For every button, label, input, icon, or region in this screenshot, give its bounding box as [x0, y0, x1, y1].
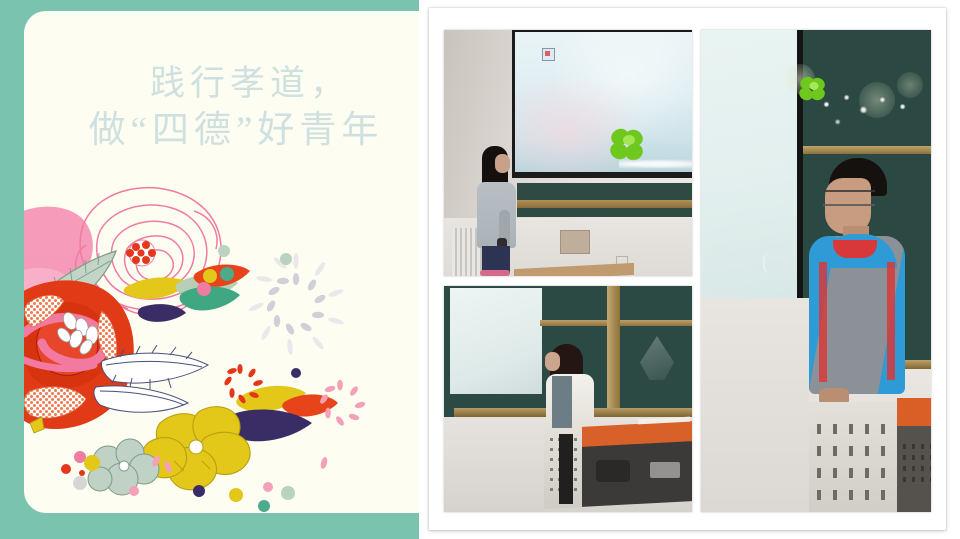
console-label: [650, 462, 680, 478]
projection-screen: [701, 30, 801, 300]
title-line-1: 践行孝道，: [24, 61, 419, 107]
projection-screen: [450, 288, 542, 394]
slide-title: 践行孝道， 做“四德”好青年: [24, 61, 419, 156]
yellow-flower: [142, 407, 250, 490]
grey-burst: [248, 253, 345, 355]
photo-boy-speaking: [701, 30, 931, 512]
blackboard-rail-vertical: [607, 286, 620, 422]
sparkle-trail: [813, 86, 925, 132]
feather-leaf-2: [94, 386, 188, 412]
slide-canvas: 践行孝道， 做“四德”好青年: [0, 0, 960, 539]
glasses-icon: [823, 190, 875, 206]
console-speaker-grill: [596, 460, 630, 482]
student-face: [545, 352, 560, 371]
blackboard-rail-upper: [803, 146, 931, 154]
student-scarf: [552, 376, 572, 428]
console-speaker-grill: [903, 444, 931, 488]
wall-panel: [560, 230, 590, 254]
photo-girl-at-projection-screen: [444, 30, 692, 276]
hoodie-stripe-right: [887, 262, 895, 380]
left-lower-wall: [701, 298, 809, 512]
peony-berry-center: [126, 240, 156, 266]
lectern-perforations: [817, 416, 889, 512]
left-decorative-panel: 践行孝道， 做“四德”好青年: [0, 0, 419, 539]
left-cream-card: 践行孝道， 做“四德”好青年: [24, 11, 419, 513]
floral-bouquet-illustration: [24, 161, 419, 513]
student-jacket: [477, 182, 516, 248]
chalk-mark: [763, 252, 779, 274]
blackboard-rail: [517, 200, 692, 208]
photo-girl-at-lectern: [444, 286, 692, 512]
student-legs: [559, 434, 573, 504]
title-line-2: 做“四德”好青年: [24, 107, 419, 156]
hoodie-collar: [833, 240, 877, 258]
slide-logo-icon: [542, 48, 555, 61]
sparkle-trail: [619, 158, 692, 170]
student-face: [495, 154, 510, 173]
teacher-console-top: [897, 398, 931, 426]
hoodie-stripe-left: [819, 262, 827, 382]
student-shoes: [480, 270, 510, 276]
photo-collage-card: [429, 8, 946, 530]
